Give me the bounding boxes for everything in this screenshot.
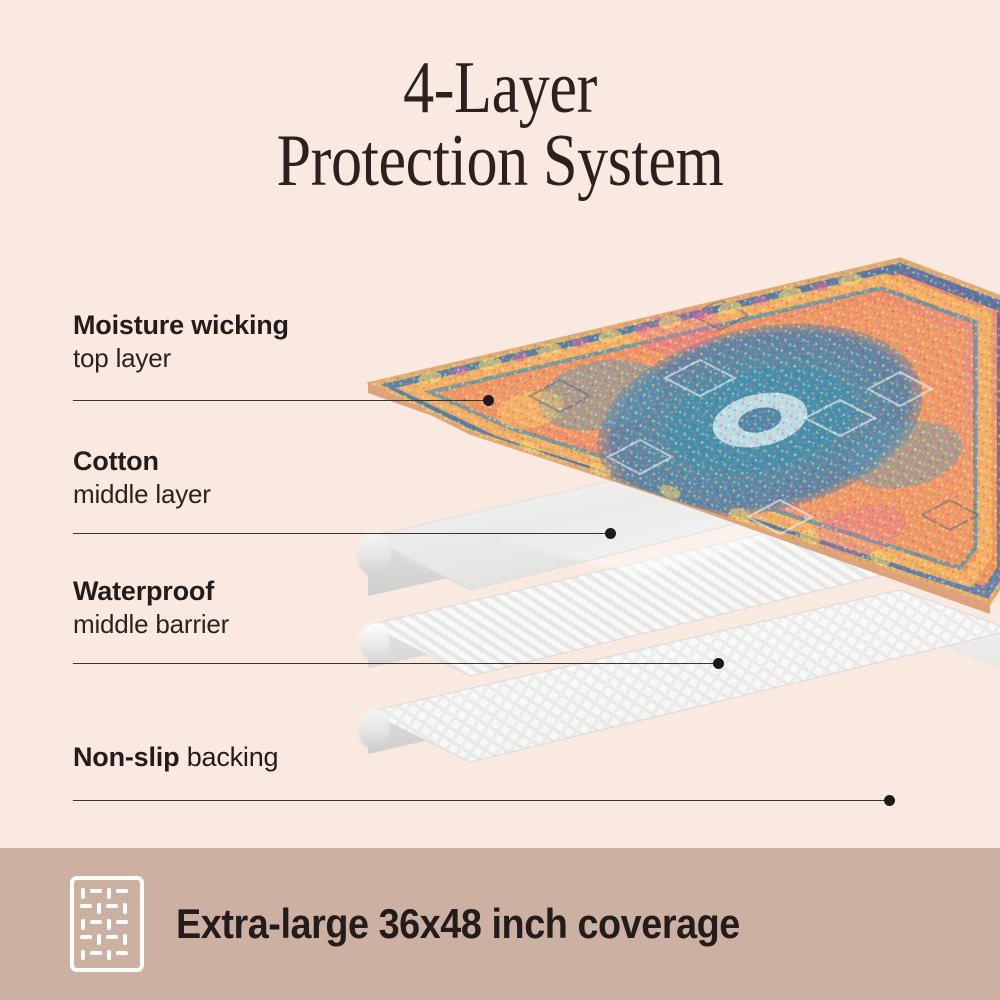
leader-line-non-slip: [73, 800, 889, 801]
leader-line-moisture-wicking: [73, 400, 488, 401]
infographic-page: 4-Layer Protection System: [0, 0, 1000, 1000]
leader-dot-moisture-wicking: [483, 395, 494, 406]
layer-label-waterproof: Waterproof middle barrier: [73, 576, 229, 640]
layer-label-moisture-wicking-regular: top layer: [73, 342, 289, 375]
layer-label-cotton: Cotton middle layer: [73, 446, 211, 510]
layer-label-cotton-regular: middle layer: [73, 478, 211, 511]
coverage-banner: Extra-large 36x48 inch coverage: [0, 848, 1000, 1000]
layer-label-waterproof-strong: Waterproof: [73, 576, 229, 608]
leader-line-cotton: [73, 533, 610, 534]
layer-label-non-slip-line: Non-slip backing: [73, 742, 278, 774]
coverage-banner-text: Extra-large 36x48 inch coverage: [176, 900, 740, 948]
leader-dot-waterproof: [713, 658, 724, 669]
leader-line-waterproof: [73, 663, 718, 664]
layer-label-moisture-wicking-strong: Moisture wicking: [73, 310, 289, 342]
coverage-banner-inner: Extra-large 36x48 inch coverage: [70, 848, 803, 1000]
leader-dot-non-slip: [884, 795, 895, 806]
leader-dot-cotton: [605, 528, 616, 539]
layer-label-moisture-wicking: Moisture wicking top layer: [73, 310, 289, 374]
rug-weave-icon: [70, 876, 144, 972]
layer-label-non-slip-regular: backing: [187, 742, 279, 772]
layer-label-cotton-strong: Cotton: [73, 446, 211, 478]
layer-label-non-slip: Non-slip backing: [73, 742, 278, 774]
layer-label-waterproof-regular: middle barrier: [73, 608, 229, 641]
